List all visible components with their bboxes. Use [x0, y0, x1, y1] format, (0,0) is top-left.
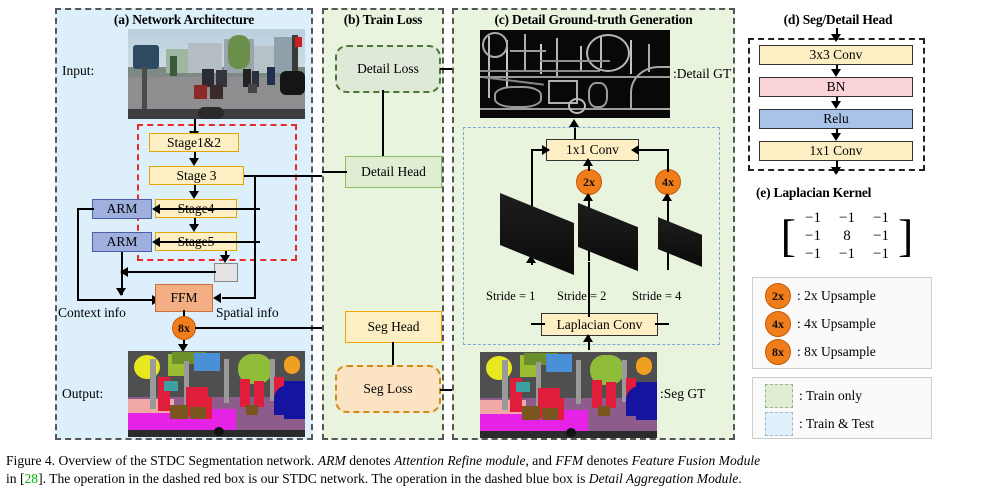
upsample-8x-circle[interactable]: 8x	[172, 316, 196, 340]
arrowhead-stage5-to-pool	[220, 255, 230, 263]
upsample-2x-circle[interactable]: 2x	[576, 169, 602, 195]
arrowhead-conv-to-detail-gt	[569, 119, 579, 127]
detail-loss-box[interactable]: Detail Loss	[335, 45, 441, 93]
caption-l2b: ]. The operation in the dashed red box i…	[38, 471, 589, 486]
edge-stage5-to-arm	[160, 241, 260, 243]
upsample-4x-circle[interactable]: 4x	[655, 169, 681, 195]
ffm-box[interactable]: FFM	[155, 284, 213, 312]
arrowhead-stage5-to-arm	[152, 237, 160, 247]
edge-arm-upper-to-ffm	[77, 299, 155, 301]
input-label: Input:	[62, 63, 94, 79]
stride-label-2: Stride = 2	[557, 289, 606, 304]
legend-row-2x: 2x : 2x Upsample	[753, 282, 931, 310]
detail-head-box[interactable]: Detail Head	[345, 156, 442, 188]
edge-stage4-to-arm	[160, 208, 260, 210]
detail-gt-image	[480, 30, 670, 118]
seg-loss-box[interactable]: Seg Loss	[335, 365, 441, 413]
caption-l1b: denotes	[346, 453, 394, 468]
edge-lap-right	[655, 323, 669, 325]
edge-arm-upper-down	[77, 208, 79, 301]
arm-box-lower[interactable]: ARM	[92, 232, 152, 252]
caption-reference[interactable]: 28	[25, 471, 39, 486]
output-segmentation-image	[128, 351, 305, 437]
caption-ffm-full: Feature Fusion Module	[632, 453, 761, 468]
caption-prefix: Figure 4.	[6, 453, 55, 468]
arrowhead-4x-to-conv	[631, 145, 639, 155]
arrowhead-spatial-to-ffm	[213, 293, 221, 303]
seg-gt-image	[480, 352, 657, 438]
kernel-cell-1-2: −1	[864, 228, 898, 245]
legend-8x-label: : 8x Upsample	[797, 344, 876, 360]
kernel-cell-1-0: −1	[796, 228, 830, 245]
edge-detail-head-to-loss	[382, 90, 384, 158]
figure-canvas: (a) Network Architecture Stage1&2	[0, 0, 991, 500]
kernel-cell-0-2: −1	[864, 210, 898, 227]
edge-spatial-to-ffm	[222, 297, 256, 299]
laplacian-kernel-matrix: [ −1 −1 −1 −1 8 −1 −1 −1 −1 ]	[772, 203, 922, 269]
arrowhead-2x-to-conv	[583, 158, 593, 166]
panel-d-title: (d) Seg/Detail Head	[748, 12, 928, 28]
kernel-cell-2-2: −1	[864, 246, 898, 263]
legend-row-8x: 8x : 8x Upsample	[753, 338, 931, 366]
edge-seg-head-to-loss	[392, 342, 394, 366]
kernel-cell-2-0: −1	[796, 246, 830, 263]
legend-phases: : Train only : Train & Test	[752, 377, 932, 439]
arrowhead-stage4-to-stage5	[189, 224, 199, 232]
kernel-cell-2-1: −1	[830, 246, 864, 263]
legend-row-4x: 4x : 4x Upsample	[753, 310, 931, 338]
legend-train-test-label: : Train & Test	[799, 416, 874, 432]
legend-train-only-swatch	[765, 384, 793, 408]
bracket-left: [	[781, 215, 796, 257]
caption-l2c: .	[738, 471, 741, 486]
arrowhead-stride1-to-conv	[542, 145, 550, 155]
legend-row-train-only: : Train only	[753, 382, 931, 410]
legend-4x-label: : 4x Upsample	[797, 316, 876, 332]
edge-4x-to-conv	[637, 149, 669, 151]
edge-lap-left	[531, 323, 545, 325]
relu-layer[interactable]: Relu	[759, 109, 913, 129]
detail-gt-label: :Detail GT	[673, 66, 731, 82]
bracket-right: ]	[898, 215, 913, 257]
stage3-box[interactable]: Stage 3	[149, 166, 244, 185]
caption-l2a: in [	[6, 471, 25, 486]
arrowhead-right-to-4x	[662, 193, 672, 201]
arrowhead-stage4-to-arm	[152, 204, 160, 214]
kernel-cell-0-1: −1	[830, 210, 864, 227]
legend-upsample: 2x : 2x Upsample 4x : 4x Upsample 8x : 8…	[752, 277, 932, 369]
legend-train-test-swatch	[765, 412, 793, 436]
bn-layer[interactable]: BN	[759, 77, 913, 97]
stage1-2-box[interactable]: Stage1&2	[149, 133, 239, 152]
arrowhead-head-out	[831, 167, 841, 175]
panel-b-title: (b) Train Loss	[324, 12, 442, 28]
stride-label-1: Stride = 1	[486, 289, 535, 304]
arrowhead-seggt-to-lap	[583, 334, 593, 342]
seg-head-box[interactable]: Seg Head	[345, 311, 442, 343]
laplacian-conv-box[interactable]: Laplacian Conv	[541, 313, 658, 336]
kernel-grid: −1 −1 −1 −1 8 −1 −1 −1 −1	[796, 210, 898, 263]
caption-l1d: denotes	[583, 453, 631, 468]
output-label: Output:	[62, 386, 103, 402]
stride-label-4: Stride = 4	[632, 289, 681, 304]
context-info-label: Context info	[58, 305, 126, 321]
kernel-cell-1-1: 8	[830, 228, 864, 245]
global-pooling-box	[214, 263, 238, 282]
arm-box-upper[interactable]: ARM	[92, 199, 152, 219]
arrowhead-relu-to-conv1	[831, 133, 841, 141]
edge-arm-upper-left	[77, 208, 94, 210]
arrowhead-arm-lower-to-ffm	[116, 288, 126, 296]
legend-2x-label: : 2x Upsample	[797, 288, 876, 304]
caption-ffm: FFM	[555, 453, 583, 468]
input-image	[128, 29, 305, 119]
panel-c-title: (c) Detail Ground-truth Generation	[454, 12, 733, 28]
caption-l1c: , and	[526, 453, 556, 468]
arrowhead-bn-to-relu	[831, 101, 841, 109]
legend-train-only-label: : Train only	[799, 388, 862, 404]
arrowhead-stage3-to-stage4	[189, 191, 199, 199]
arrowhead-conv3-to-bn	[831, 69, 841, 77]
edge-pool-to-arm-column	[128, 271, 216, 273]
conv-1x1-layer[interactable]: 1x1 Conv	[759, 141, 913, 161]
edge-lap-mid-up	[588, 262, 590, 317]
edge-stage3-to-detail-head	[322, 171, 347, 173]
caption-arm: ARM	[318, 453, 346, 468]
conv-3x3-layer[interactable]: 3x3 Conv	[759, 45, 913, 65]
edge-spatial-down	[254, 175, 256, 298]
edge-4x-up	[667, 150, 669, 172]
panel-a-title: (a) Network Architecture	[57, 12, 311, 28]
caption-l1a: Overview of the STDC Segmentation networ…	[55, 453, 318, 468]
legend-8x-icon: 8x	[765, 339, 791, 365]
caption-arm-full: Attention Refine module	[394, 453, 525, 468]
seg-gt-label: :Seg GT	[660, 386, 705, 402]
kernel-cell-0-0: −1	[796, 210, 830, 227]
arrowhead-stage1-to-stage3	[189, 158, 199, 166]
panel-e-title: (e) Laplacian Kernel	[748, 185, 928, 201]
legend-4x-icon: 4x	[765, 311, 791, 337]
spatial-info-label: Spatial info	[216, 305, 279, 321]
legend-2x-icon: 2x	[765, 283, 791, 309]
caption-dam: Detail Aggregation Module	[589, 471, 739, 486]
figure-caption: Figure 4. Overview of the STDC Segmentat…	[6, 452, 986, 487]
arrowhead-mid-to-2x	[583, 193, 593, 201]
legend-row-train-test: : Train & Test	[753, 410, 931, 438]
edge-stage3-right	[244, 175, 333, 177]
